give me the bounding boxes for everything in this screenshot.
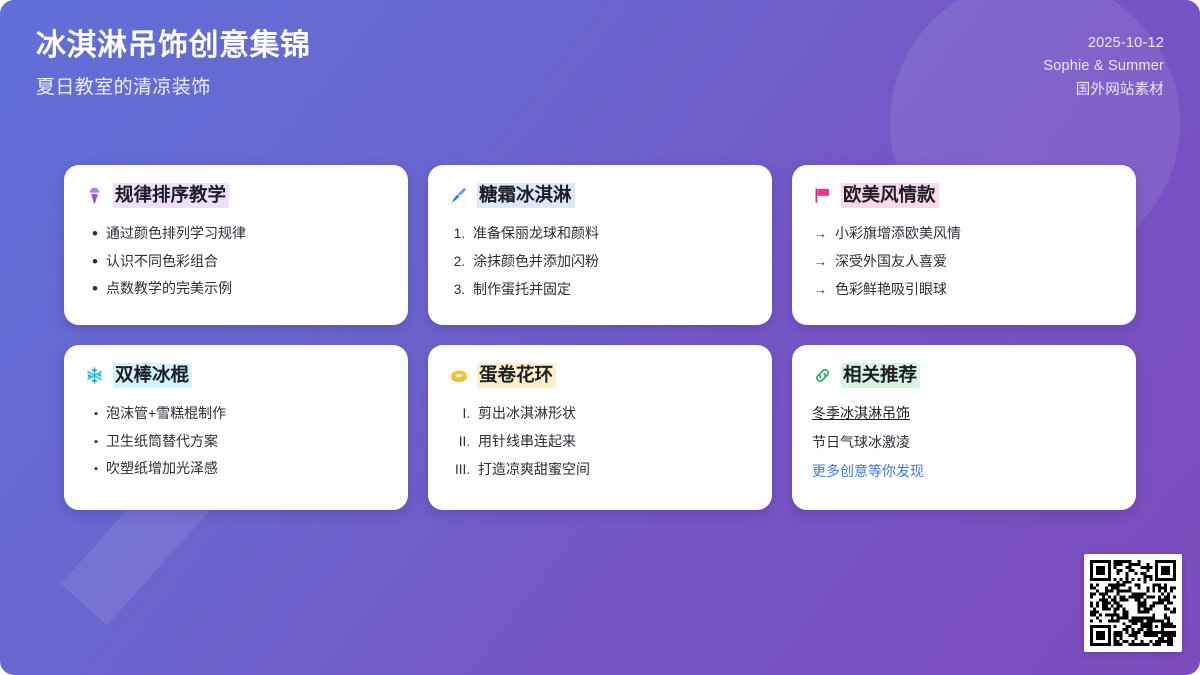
card-title: 欧美风情款 (841, 183, 939, 208)
card-list: ▪ 泡沫管+雪糕棍制作 ▪ 卫生纸筒替代方案 ▪ 吹塑纸增加光泽感 (84, 399, 388, 483)
flag-icon (812, 185, 833, 206)
card-header: 规律排序教学 (84, 183, 388, 208)
list-marker: 3. (448, 281, 465, 299)
list-item: → 色彩鲜艳吸引眼球 (812, 276, 1116, 304)
qr-code[interactable] (1084, 554, 1182, 652)
list-item: 1. 准备保丽龙球和颜料 (448, 219, 752, 247)
meta-date: 2025-10-12 (1088, 32, 1164, 55)
list-text: 打造凉爽甜蜜空间 (478, 460, 590, 479)
header-title-block: 冰淇淋吊饰创意集锦 夏日教室的清凉装饰 (36, 26, 311, 99)
list-item: → 深受外国友人喜爱 (812, 247, 1116, 275)
header-meta-block: 2025-10-12 Sophie & Summer 国外网站素材 (1043, 26, 1164, 102)
list-item: I. 剪出冰淇淋形状 (448, 399, 752, 427)
list-text: 准备保丽龙球和颜料 (473, 224, 599, 243)
list-marker: I. (448, 405, 470, 423)
card-title: 蛋卷花环 (477, 363, 556, 388)
slide-root: 冰淇淋吊饰创意集锦 夏日教室的清凉装饰 2025-10-12 Sophie & … (0, 0, 1200, 675)
list-marker: 1. (448, 225, 465, 243)
page-title: 冰淇淋吊饰创意集锦 (36, 26, 311, 65)
list-item: • 点数教学的完美示例 (84, 275, 388, 303)
card-title: 双棒冰棍 (113, 363, 192, 388)
list-marker: 2. (448, 253, 465, 271)
page-subtitle: 夏日教室的清凉装饰 (36, 72, 311, 99)
list-text: 吹塑纸增加光泽感 (106, 459, 218, 478)
list-marker: → (812, 281, 827, 299)
list-marker: • (84, 225, 98, 242)
card-header: 蛋卷花环 (448, 363, 752, 388)
card-related-recommend[interactable]: 相关推荐 冬季冰淇淋吊饰 节日气球冰激凌 更多创意等你发现 (792, 345, 1136, 510)
card-cone-wreath[interactable]: 蛋卷花环 I. 剪出冰淇淋形状 II. 用针线串连起来 III. 打造凉爽甜蜜空… (428, 345, 772, 510)
paintbrush-icon (448, 185, 469, 206)
list-text: 点数教学的完美示例 (106, 279, 232, 298)
list-text: 用针线串连起来 (478, 432, 576, 451)
ice-cream-cone-icon (84, 185, 105, 206)
list-marker: → (812, 225, 827, 243)
list-item: → 小彩旗增添欧美风情 (812, 219, 1116, 247)
card-list: • 通过颜色排列学习规律 • 认识不同色彩组合 • 点数教学的完美示例 (84, 219, 388, 303)
recommend-link-2[interactable]: 节日气球冰激凌 (812, 434, 910, 450)
list-marker: ▪ (84, 437, 98, 448)
list-item: II. 用针线串连起来 (448, 427, 752, 455)
list-marker: → (812, 253, 827, 271)
snowflake-icon (84, 365, 105, 386)
link-chain-icon (812, 365, 833, 386)
card-double-popsicle[interactable]: 双棒冰棍 ▪ 泡沫管+雪糕棍制作 ▪ 卫生纸筒替代方案 ▪ 吹塑纸增加光泽感 (64, 345, 408, 510)
recommend-link-1[interactable]: 冬季冰淇淋吊饰 (812, 405, 910, 421)
list-item: 3. 制作蛋托并固定 (448, 276, 752, 304)
card-frosting-icecream[interactable]: 糖霜冰淇淋 1. 准备保丽龙球和颜料 2. 涂抹颜色并添加闪粉 3. 制作蛋托并… (428, 165, 772, 325)
list-text: 小彩旗增添欧美风情 (835, 224, 961, 243)
list-marker: ▪ (84, 409, 98, 420)
recommend-link-3[interactable]: 更多创意等你发现 (812, 463, 924, 479)
card-list: I. 剪出冰淇淋形状 II. 用针线串连起来 III. 打造凉爽甜蜜空间 (448, 399, 752, 484)
card-header: 糖霜冰淇淋 (448, 183, 752, 208)
list-text: 剪出冰淇淋形状 (478, 404, 576, 423)
list-text: 认识不同色彩组合 (106, 252, 218, 271)
qr-code-canvas (1090, 560, 1176, 646)
list-marker: • (84, 280, 98, 297)
list-item: • 通过颜色排列学习规律 (84, 219, 388, 247)
list-marker: ▪ (84, 464, 98, 475)
list-item[interactable]: 更多创意等你发现 (812, 457, 1116, 486)
list-text: 卫生纸筒替代方案 (106, 432, 218, 451)
donut-ring-icon (448, 365, 469, 386)
list-text: 深受外国友人喜爱 (835, 252, 947, 271)
list-text: 通过颜色排列学习规律 (106, 224, 246, 243)
card-title: 规律排序教学 (113, 183, 229, 208)
list-item: ▪ 吹塑纸增加光泽感 (84, 455, 388, 483)
list-text: 制作蛋托并固定 (473, 280, 571, 299)
card-western-style[interactable]: 欧美风情款 → 小彩旗增添欧美风情 → 深受外国友人喜爱 → 色彩鲜艳吸引眼球 (792, 165, 1136, 325)
card-title: 相关推荐 (841, 363, 920, 388)
card-grid: 规律排序教学 • 通过颜色排列学习规律 • 认识不同色彩组合 • 点数教学的完美… (64, 165, 1136, 510)
meta-authors: Sophie & Summer (1043, 55, 1164, 78)
list-text: 色彩鲜艳吸引眼球 (835, 280, 947, 299)
list-item: III. 打造凉爽甜蜜空间 (448, 456, 752, 484)
card-list: 1. 准备保丽龙球和颜料 2. 涂抹颜色并添加闪粉 3. 制作蛋托并固定 (448, 219, 752, 304)
card-header: 双棒冰棍 (84, 363, 388, 388)
card-header: 相关推荐 (812, 363, 1116, 388)
list-item: ▪ 卫生纸筒替代方案 (84, 427, 388, 455)
list-text: 泡沫管+雪糕棍制作 (106, 404, 226, 423)
list-item: 2. 涂抹颜色并添加闪粉 (448, 247, 752, 275)
list-item[interactable]: 冬季冰淇淋吊饰 (812, 399, 1116, 428)
list-marker: • (84, 253, 98, 270)
list-text: 涂抹颜色并添加闪粉 (473, 252, 599, 271)
slide-header: 冰淇淋吊饰创意集锦 夏日教室的清凉装饰 2025-10-12 Sophie & … (0, 0, 1200, 102)
card-list: → 小彩旗增添欧美风情 → 深受外国友人喜爱 → 色彩鲜艳吸引眼球 (812, 219, 1116, 304)
recommend-link-list: 冬季冰淇淋吊饰 节日气球冰激凌 更多创意等你发现 (812, 399, 1116, 486)
list-item[interactable]: 节日气球冰激凌 (812, 428, 1116, 457)
list-marker: III. (448, 461, 470, 479)
card-header: 欧美风情款 (812, 183, 1116, 208)
list-marker: II. (448, 433, 470, 451)
list-item: ▪ 泡沫管+雪糕棍制作 (84, 399, 388, 427)
list-item: • 认识不同色彩组合 (84, 247, 388, 275)
card-title: 糖霜冰淇淋 (477, 183, 575, 208)
meta-source: 国外网站素材 (1076, 79, 1164, 102)
card-pattern-teaching[interactable]: 规律排序教学 • 通过颜色排列学习规律 • 认识不同色彩组合 • 点数教学的完美… (64, 165, 408, 325)
